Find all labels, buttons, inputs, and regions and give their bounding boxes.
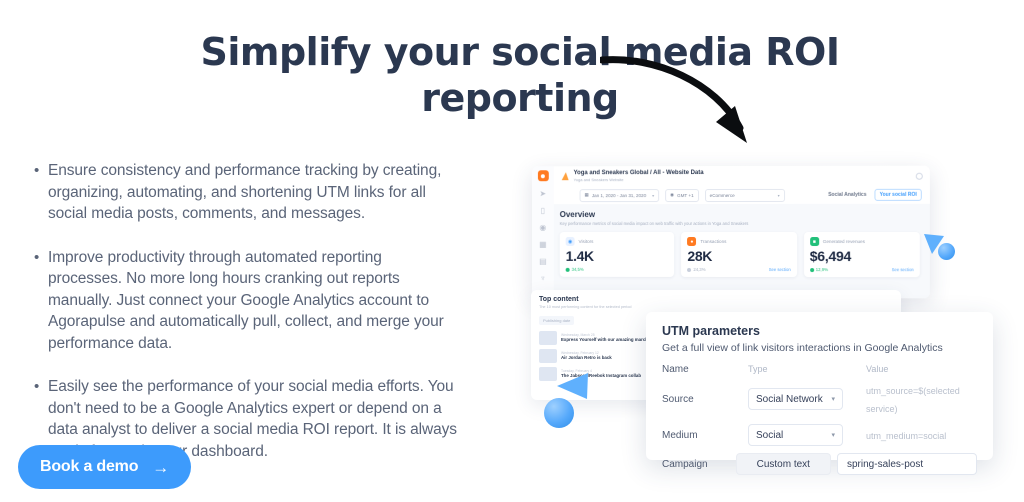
landing-section: Simplify your social media ROI reporting… (0, 0, 1024, 502)
trend-up-icon (687, 267, 691, 271)
list-item: • Ensure consistency and performance tra… (28, 160, 458, 225)
column-header-value: Value (866, 364, 977, 375)
top-content-column-header: Publishing date (539, 316, 574, 325)
metric-label: Transactions (700, 239, 726, 244)
list-item: • Improve productivity through automated… (28, 247, 458, 355)
book-a-demo-button[interactable]: Book a demo → (18, 445, 191, 489)
source-type-select[interactable]: Social Network ▾ (748, 388, 843, 410)
trend-up-icon (810, 268, 814, 272)
utm-parameters-panel: UTM parameters Get a full view of link v… (646, 312, 993, 460)
utm-row-medium: Medium Social ▾ utm_medium=social (662, 424, 977, 446)
utm-param-name: Medium (662, 430, 748, 441)
list-item-text: Improve productivity through automated r… (48, 247, 458, 355)
utm-table-header: Name Type Value (662, 364, 977, 375)
chevron-down-icon: ▾ (831, 395, 835, 403)
logo-icon (537, 170, 548, 181)
column-header-type: Type (748, 364, 866, 375)
metric-label: Generated revenues (823, 239, 865, 244)
metric-card-revenues[interactable]: ■ Generated revenues $6,494 12,9% See se… (804, 232, 920, 277)
list-item-text: Ensure consistency and performance track… (48, 160, 458, 225)
chevron-down-icon: ▾ (652, 193, 654, 198)
cta-label: Book a demo (40, 458, 138, 476)
top-content-title: Top content (539, 296, 893, 303)
overview-title: Overview (560, 210, 920, 219)
thumbnail-image (539, 331, 557, 345)
dashboard-filters: ▦ Jan 1, 2020 - Jan 31, 2020 ▾ ◉ GMT +1 … (554, 186, 930, 204)
metric-value: 1.4K (566, 248, 669, 264)
metric-card-visitors[interactable]: ◉ Visitors 1.4K 34,5% (560, 232, 675, 277)
account-title[interactable]: Yoga and Sneakers Global / All - Website… (574, 170, 704, 177)
input-value: spring-sales-post (847, 459, 923, 470)
globe-icon: ◉ (670, 192, 674, 198)
thumbnail-image (539, 349, 557, 363)
bullet-marker: • (28, 160, 48, 225)
chevron-down-icon: ▾ (778, 192, 780, 197)
utm-table: Name Type Value Source Social Network ▾ … (662, 364, 977, 475)
metric-value: $6,494 (810, 248, 914, 264)
column-header-name: Name (662, 364, 748, 375)
transactions-icon: ● (687, 237, 696, 246)
dashboard-sidebar[interactable]: ➤ ▯ ◉ ▦ ▤ ♆ ▲ ◉ ☐ + ☉ ⚙ ● (532, 166, 555, 298)
metric-cards: ◉ Visitors 1.4K 34,5% ● Transactions (560, 232, 920, 277)
metric-card-transactions[interactable]: ● Transactions 28K 24,3% See section (681, 232, 796, 277)
metric-delta: 24,3% (687, 267, 705, 272)
tab-your-social-roi[interactable]: Your social ROI (875, 189, 922, 201)
reports-icon[interactable]: ▤ (538, 256, 548, 266)
chevron-down-icon: ▾ (831, 431, 835, 439)
row-name: Air Jordan Retro is back (561, 355, 612, 360)
sphere-decoration-right (938, 243, 955, 260)
thumbnail-image (539, 367, 557, 381)
gear-icon[interactable] (916, 173, 923, 180)
date-range-value: Jan 1, 2020 - Jan 31, 2020 (592, 193, 646, 198)
medium-type-select[interactable]: Social ▾ (748, 424, 843, 446)
metric-delta-value: 12,9% (816, 267, 828, 272)
metric-value: 28K (687, 248, 790, 264)
account-brand-icon (562, 172, 569, 180)
dashboard-content: Overview Key performance metrics of soci… (554, 204, 930, 298)
visitors-icon: ◉ (566, 237, 575, 246)
top-content-subtitle: The 10 most performing content for the s… (539, 305, 893, 309)
calendar-icon: ▦ (585, 192, 589, 198)
timezone-value: GMT +1 (677, 193, 694, 198)
utm-param-name: Campaign (662, 459, 736, 470)
utm-param-name: Source (662, 394, 748, 405)
tab-social-analytics[interactable]: Social Analytics (824, 190, 870, 200)
view-value: eCommerce (710, 192, 735, 197)
metric-delta: 12,9% (810, 267, 828, 272)
arrow-right-icon: → (152, 459, 169, 476)
overview-subtitle: Key performance metrics of social media … (560, 221, 920, 226)
inbox-icon[interactable]: ▯ (538, 205, 548, 215)
see-section-link[interactable]: See section (892, 267, 914, 272)
utm-row-source: Source Social Network ▾ utm_source=$(sel… (662, 381, 977, 417)
dashboard-topbar: Yoga and Sneakers Global / All - Website… (554, 166, 930, 187)
see-section-link[interactable]: See section (769, 267, 791, 272)
curved-arrow-decoration (600, 50, 770, 160)
select-value: Social (756, 430, 783, 441)
listening-icon[interactable]: ◉ (538, 222, 548, 232)
chip-value: Custom text (757, 459, 810, 470)
campaign-type-chip[interactable]: Custom text (736, 453, 831, 475)
publishing-icon[interactable]: ➤ (538, 188, 548, 198)
metric-label: Visitors (579, 239, 594, 244)
view-filter[interactable]: eCommerce ▾ (705, 188, 785, 201)
dashboard-tabs: Social Analytics Your social ROI (824, 189, 922, 201)
account-subtitle: Yoga and Sneakers Website (574, 177, 704, 182)
utm-subtitle: Get a full view of link visitors interac… (662, 342, 977, 354)
utm-row-campaign: Campaign Custom text spring-sales-post (662, 453, 977, 475)
revenues-icon: ■ (810, 237, 819, 246)
trend-up-icon (566, 267, 570, 271)
date-range-filter[interactable]: ▦ Jan 1, 2020 - Jan 31, 2020 ▾ (580, 189, 660, 202)
utm-title: UTM parameters (662, 324, 977, 338)
benefit-list: • Ensure consistency and performance tra… (28, 160, 458, 484)
metric-delta: 34,5% (566, 267, 584, 272)
timezone-filter[interactable]: ◉ GMT +1 (665, 189, 699, 202)
source-value-hint: utm_source=$(selected service) (866, 386, 960, 414)
team-icon[interactable]: ♆ (538, 273, 548, 283)
bullet-marker: • (28, 247, 48, 355)
sphere-decoration-left (544, 398, 574, 428)
calendar-icon[interactable]: ▦ (538, 239, 548, 249)
metric-delta-value: 24,3% (693, 267, 705, 272)
dashboard-screenshot[interactable]: ➤ ▯ ◉ ▦ ▤ ♆ ▲ ◉ ☐ + ☉ ⚙ ● Yoga and Sneak… (532, 166, 930, 299)
metric-delta-value: 34,5% (572, 267, 584, 272)
medium-value-hint: utm_medium=social (866, 431, 946, 441)
select-value: Social Network (756, 394, 823, 405)
campaign-value-input[interactable]: spring-sales-post (837, 453, 977, 475)
